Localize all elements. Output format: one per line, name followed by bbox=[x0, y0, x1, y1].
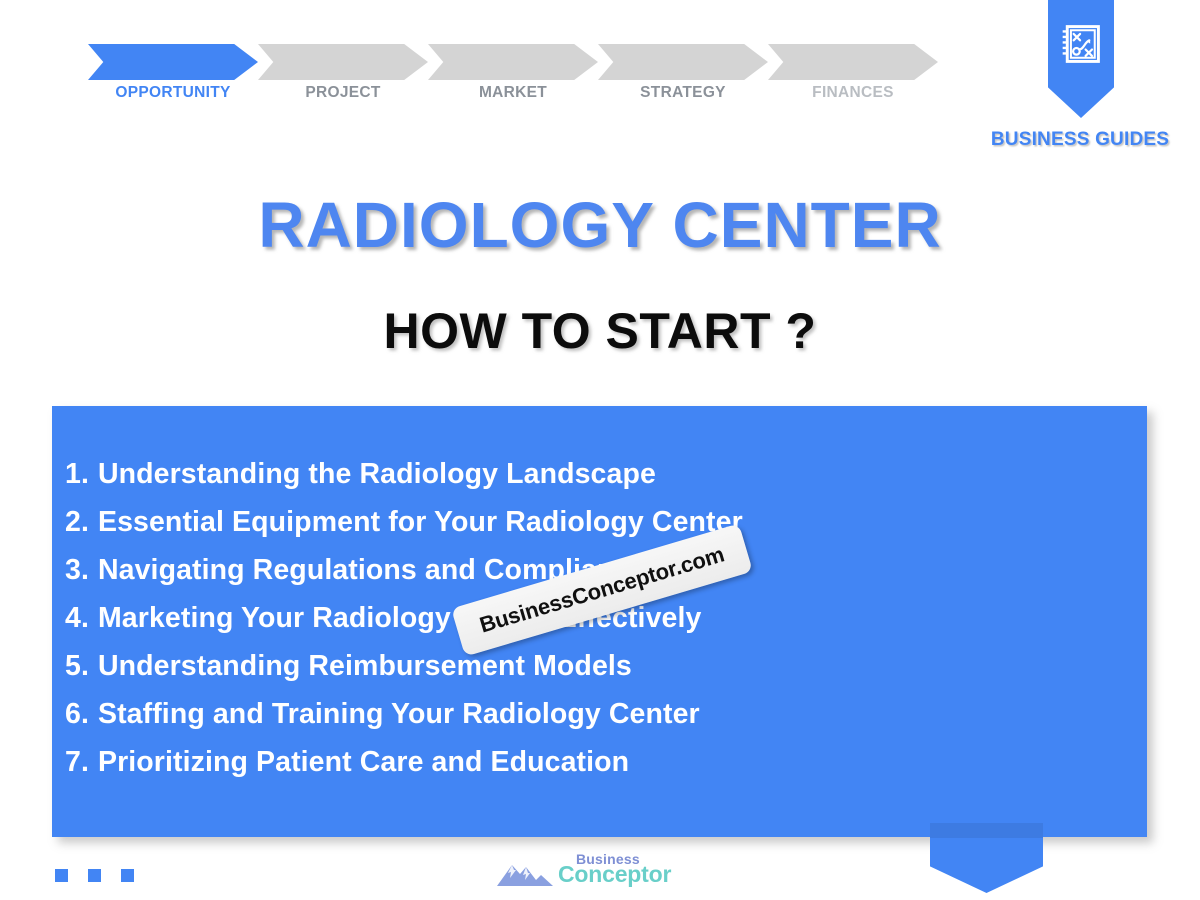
topic-list: 1. Understanding the Radiology Landscape… bbox=[65, 458, 1137, 794]
list-item-label: Prioritizing Patient Care and Education bbox=[98, 746, 629, 779]
business-guides-badge bbox=[1048, 0, 1114, 118]
list-item-label: Staffing and Training Your Radiology Cen… bbox=[98, 698, 700, 731]
bottom-ribbon-marker bbox=[930, 823, 1043, 893]
list-item-number: 4. bbox=[65, 602, 89, 635]
page-subtitle: HOW TO START ? bbox=[0, 302, 1200, 360]
chevron-shape bbox=[598, 44, 768, 80]
list-item[interactable]: 1. Understanding the Radiology Landscape bbox=[65, 458, 1137, 506]
stepper-step-market[interactable]: MARKET bbox=[428, 44, 598, 80]
chevron-shape bbox=[768, 44, 938, 80]
list-item-number: 3. bbox=[65, 554, 89, 587]
list-item[interactable]: 5. Understanding Reimbursement Models bbox=[65, 650, 1137, 698]
footer-logo: Business Conceptor bbox=[495, 850, 695, 892]
stepper-step-project[interactable]: PROJECT bbox=[258, 44, 428, 80]
chevron-shape bbox=[428, 44, 598, 80]
pagination-dot[interactable] bbox=[55, 869, 68, 882]
business-guides-label: BUSINESS GUIDES bbox=[960, 129, 1200, 151]
list-item-label: Essential Equipment for Your Radiology C… bbox=[98, 506, 743, 539]
chevron-shape bbox=[258, 44, 428, 80]
page-title: RADIOLOGY CENTER bbox=[0, 188, 1200, 262]
ribbon-notch bbox=[930, 823, 1043, 838]
progress-stepper: OPPORTUNITY PROJECT MARKET STRATEGY FINA… bbox=[88, 44, 938, 80]
list-item[interactable]: 2. Essential Equipment for Your Radiolog… bbox=[65, 506, 1137, 554]
list-item-label: Understanding the Radiology Landscape bbox=[98, 458, 656, 491]
list-item-number: 6. bbox=[65, 698, 89, 731]
list-item-number: 2. bbox=[65, 506, 89, 539]
chevron-shape bbox=[88, 44, 258, 80]
pagination-dots bbox=[55, 869, 134, 882]
pagination-dot[interactable] bbox=[88, 869, 101, 882]
list-item[interactable]: 7. Prioritizing Patient Care and Educati… bbox=[65, 746, 1137, 794]
strategy-playbook-icon bbox=[1059, 22, 1103, 66]
stepper-step-label: OPPORTUNITY bbox=[88, 84, 258, 102]
stepper-step-label: FINANCES bbox=[768, 84, 938, 102]
list-item[interactable]: 6. Staffing and Training Your Radiology … bbox=[65, 698, 1137, 746]
list-item-number: 5. bbox=[65, 650, 89, 683]
content-panel: 1. Understanding the Radiology Landscape… bbox=[52, 406, 1147, 837]
stepper-step-label: PROJECT bbox=[258, 84, 428, 102]
stepper-step-label: STRATEGY bbox=[598, 84, 768, 102]
stepper-step-opportunity[interactable]: OPPORTUNITY bbox=[88, 44, 258, 80]
mountain-peaks-icon bbox=[495, 856, 561, 890]
list-item-label: Understanding Reimbursement Models bbox=[98, 650, 632, 683]
footer-logo-bottom: Conceptor bbox=[558, 863, 671, 886]
stepper-step-strategy[interactable]: STRATEGY bbox=[598, 44, 768, 80]
stepper-step-label: MARKET bbox=[428, 84, 598, 102]
pagination-dot[interactable] bbox=[121, 869, 134, 882]
list-item-number: 1. bbox=[65, 458, 89, 491]
stepper-step-finances[interactable]: FINANCES bbox=[768, 44, 938, 80]
list-item-number: 7. bbox=[65, 746, 89, 779]
